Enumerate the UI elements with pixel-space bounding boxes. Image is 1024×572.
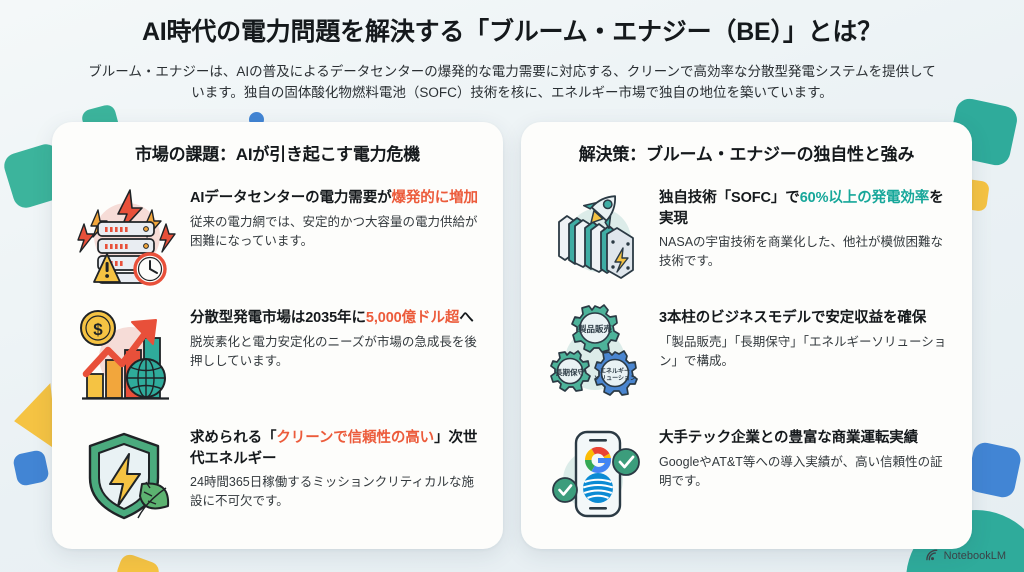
fuel-cell-stack-rocket-icon <box>543 182 647 286</box>
three-gears-business-model-icon: 製品販売 長期保守 エネルギー ソリューション <box>543 302 647 406</box>
shield-clean-energy-icon <box>74 422 178 526</box>
list-item: AIデータセンターの電力需要が爆発的に増加 従来の電力網では、安定的かつ大容量の… <box>72 173 483 293</box>
svg-text:$: $ <box>93 320 103 339</box>
item-heading: 独自技術「SOFC」で60%以上の発電効率を実現 <box>659 188 948 229</box>
svg-text:エネルギー: エネルギー <box>600 367 630 375</box>
item-text: 求められる「クリーンで信頼性の高い」次世代エネルギー 24時間365日稼働するミ… <box>190 422 479 511</box>
server-power-surge-icon <box>74 182 178 286</box>
item-description: GoogleやAT&T等への導入実績が、高い信頼性の証明です。 <box>659 453 948 491</box>
notebooklm-watermark: NotebookLM <box>926 549 1006 562</box>
card-solutions-strengths: 解決策：ブルーム・エナジーの独自性と強み <box>521 122 972 549</box>
item-text: 3本柱のビジネスモデルで安定収益を確保 「製品販売」「長期保守」「エネルギーソリ… <box>659 302 948 370</box>
list-item: 求められる「クリーンで信頼性の高い」次世代エネルギー 24時間365日稼働するミ… <box>72 413 483 533</box>
item-text: 大手テック企業との豊富な商業運転実績 GoogleやAT&T等への導入実績が、高… <box>659 422 948 490</box>
page-header: AI時代の電力問題を解決する「ブルーム・エナジー（BE）」とは？ ブルーム・エナ… <box>0 0 1024 104</box>
item-heading: 求められる「クリーンで信頼性の高い」次世代エネルギー <box>190 428 479 469</box>
notebooklm-icon <box>926 549 939 562</box>
card-market-challenges: 市場の課題：AIが引き起こす電力危機 <box>52 122 503 549</box>
list-item: 大手テック企業との豊富な商業運転実績 GoogleやAT&T等への導入実績が、高… <box>541 413 952 533</box>
market-growth-chart-icon: $ <box>74 302 178 406</box>
item-heading: 3本柱のビジネスモデルで安定収益を確保 <box>659 308 948 329</box>
card-title-right: 解決策：ブルーム・エナジーの独自性と強み <box>541 140 952 165</box>
page-title: AI時代の電力問題を解決する「ブルーム・エナジー（BE）」とは？ <box>60 16 964 49</box>
item-heading: 分散型発電市場は2035年に5,000億ドル超へ <box>190 308 479 329</box>
deco-shape-yellow-bottom-left <box>114 552 161 572</box>
item-description: 24時間365日稼働するミッションクリティカルな施設に不可欠です。 <box>190 473 479 511</box>
item-text: AIデータセンターの電力需要が爆発的に増加 従来の電力網では、安定的かつ大容量の… <box>190 182 479 250</box>
item-description: 従来の電力網では、安定的かつ大容量の電力供給が困難になっています。 <box>190 213 479 251</box>
item-text: 独自技術「SOFC」で60%以上の発電効率を実現 NASAの宇宙技術を商業化した… <box>659 182 948 271</box>
list-item: $ 分散型発電市場は2035年に5,000億ドル超へ 脱炭素化と電力安定化のニー… <box>72 293 483 413</box>
page-subtitle: ブルーム・エナジーは、AIの普及によるデータセンターの爆発的な電力需要に対応する… <box>82 61 942 105</box>
gear-label-long-term-maintenance: 長期保守 <box>555 367 585 377</box>
list-item: 製品販売 長期保守 エネルギー ソリューション <box>541 293 952 413</box>
card-title-left: 市場の課題：AIが引き起こす電力危機 <box>72 140 483 165</box>
notebooklm-label: NotebookLM <box>944 550 1006 562</box>
item-description: 脱炭素化と電力安定化のニーズが市場の急成長を後押ししています。 <box>190 333 479 371</box>
item-description: 「製品販売」「長期保守」「エネルギーソリューション」で構成。 <box>659 333 948 371</box>
item-heading: 大手テック企業との豊富な商業運転実績 <box>659 428 948 449</box>
item-heading: AIデータセンターの電力需要が爆発的に増加 <box>190 188 479 209</box>
gear-label-product-sales: 製品販売 <box>577 324 613 334</box>
item-text: 分散型発電市場は2035年に5,000億ドル超へ 脱炭素化と電力安定化のニーズが… <box>190 302 479 370</box>
smartphone-tech-logos-icon <box>543 422 647 526</box>
cards-row: 市場の課題：AIが引き起こす電力危機 <box>0 104 1024 549</box>
list-item: 独自技術「SOFC」で60%以上の発電効率を実現 NASAの宇宙技術を商業化した… <box>541 173 952 293</box>
item-description: NASAの宇宙技術を商業化した、他社が模倣困難な技術です。 <box>659 233 948 271</box>
svg-text:ソリューション: ソリューション <box>594 375 636 382</box>
